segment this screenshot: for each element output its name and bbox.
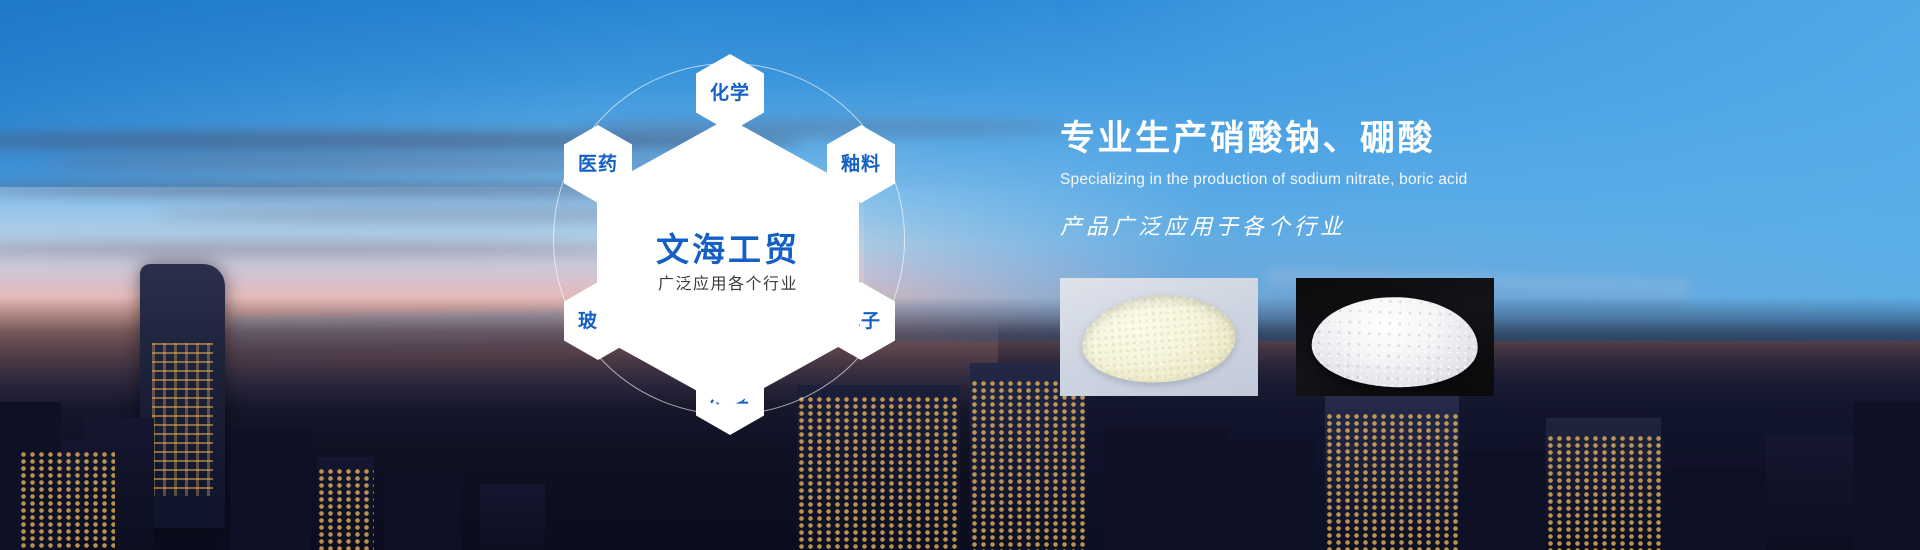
powder-pile xyxy=(1079,290,1239,388)
window-lights xyxy=(19,451,115,550)
company-tagline: 广泛应用各个行业 xyxy=(658,277,798,293)
product-photo-gallery xyxy=(1060,278,1494,396)
window-lights xyxy=(970,380,1085,550)
hexagon-label: 医药 xyxy=(578,155,618,174)
product-photo-boric-acid[interactable] xyxy=(1296,278,1494,396)
window-lights xyxy=(1546,435,1661,550)
hero-copy: 专业生产硝酸钠、硼酸 Specializing in the productio… xyxy=(1060,120,1600,241)
company-name: 文海工贸 xyxy=(656,233,800,266)
hexagon-label: 化学 xyxy=(710,84,750,103)
hexagon-label: 釉料 xyxy=(841,155,881,174)
building-blocks xyxy=(0,0,1920,550)
headline: 专业生产硝酸钠、硼酸 xyxy=(1060,120,1600,159)
building xyxy=(230,429,311,550)
building xyxy=(1459,451,1545,550)
powder-pile xyxy=(1310,294,1479,389)
tagline: 产品广泛应用于各个行业 xyxy=(1060,209,1600,241)
subheadline-english: Specializing in the production of sodium… xyxy=(1060,171,1600,189)
building xyxy=(1853,402,1920,550)
building xyxy=(1766,435,1862,550)
window-lights xyxy=(1325,413,1459,550)
hero-banner: 化学 釉料 电子 冶金 玻璃 医药 文海工贸 广泛应用各个行业 专业生产硝酸钠、… xyxy=(0,0,1920,550)
building xyxy=(1210,440,1316,550)
window-lights xyxy=(317,468,375,550)
building xyxy=(1670,468,1766,550)
building xyxy=(384,473,461,550)
product-photo-sodium-nitrate[interactable] xyxy=(1060,278,1258,396)
industry-hexagon-diagram: 化学 釉料 电子 冶金 玻璃 医药 文海工贸 广泛应用各个行业 xyxy=(520,18,940,533)
